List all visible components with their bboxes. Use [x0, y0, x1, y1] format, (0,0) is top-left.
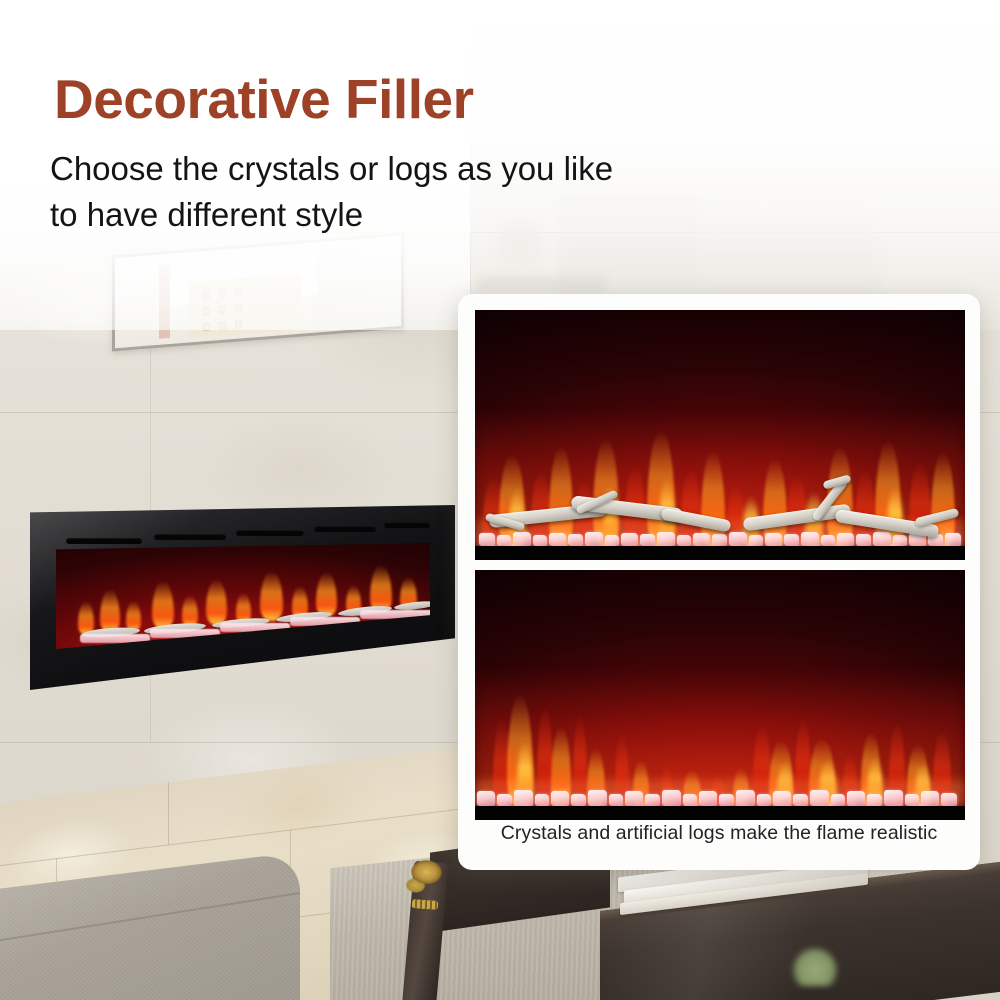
crystals-only-flame-photo: [475, 570, 965, 820]
logs-and-crystals-flame-photo: [475, 310, 965, 560]
fireplace-vent: [66, 538, 142, 544]
subtitle-line-2: to have different style: [50, 192, 613, 238]
fireplace-base-bar: [475, 546, 965, 560]
fireplace-base-bar: [475, 806, 965, 820]
card-caption: Crystals and artificial logs make the fl…: [458, 822, 980, 845]
fireplace-vent: [236, 530, 304, 536]
flame-scene-logs: [475, 310, 965, 546]
page-subtitle: Choose the crystals or logs as you like …: [50, 146, 613, 237]
fireplace-vent: [384, 522, 430, 528]
wall-mounted-electric-fireplace: [30, 505, 455, 690]
gold-bead-trim: [412, 899, 439, 910]
feature-card: Crystals and artificial logs make the fl…: [458, 294, 980, 870]
subtitle-line-1: Choose the crystals or logs as you like: [50, 146, 613, 192]
plant-blur: [792, 946, 838, 986]
fireplace-vent: [154, 534, 226, 540]
fireplace-vent: [314, 526, 376, 532]
crystal-bed: [475, 776, 965, 806]
page-title: Decorative Filler: [54, 70, 473, 128]
tile-grout-line: [168, 782, 169, 844]
flame-scene-crystals: [475, 570, 965, 806]
